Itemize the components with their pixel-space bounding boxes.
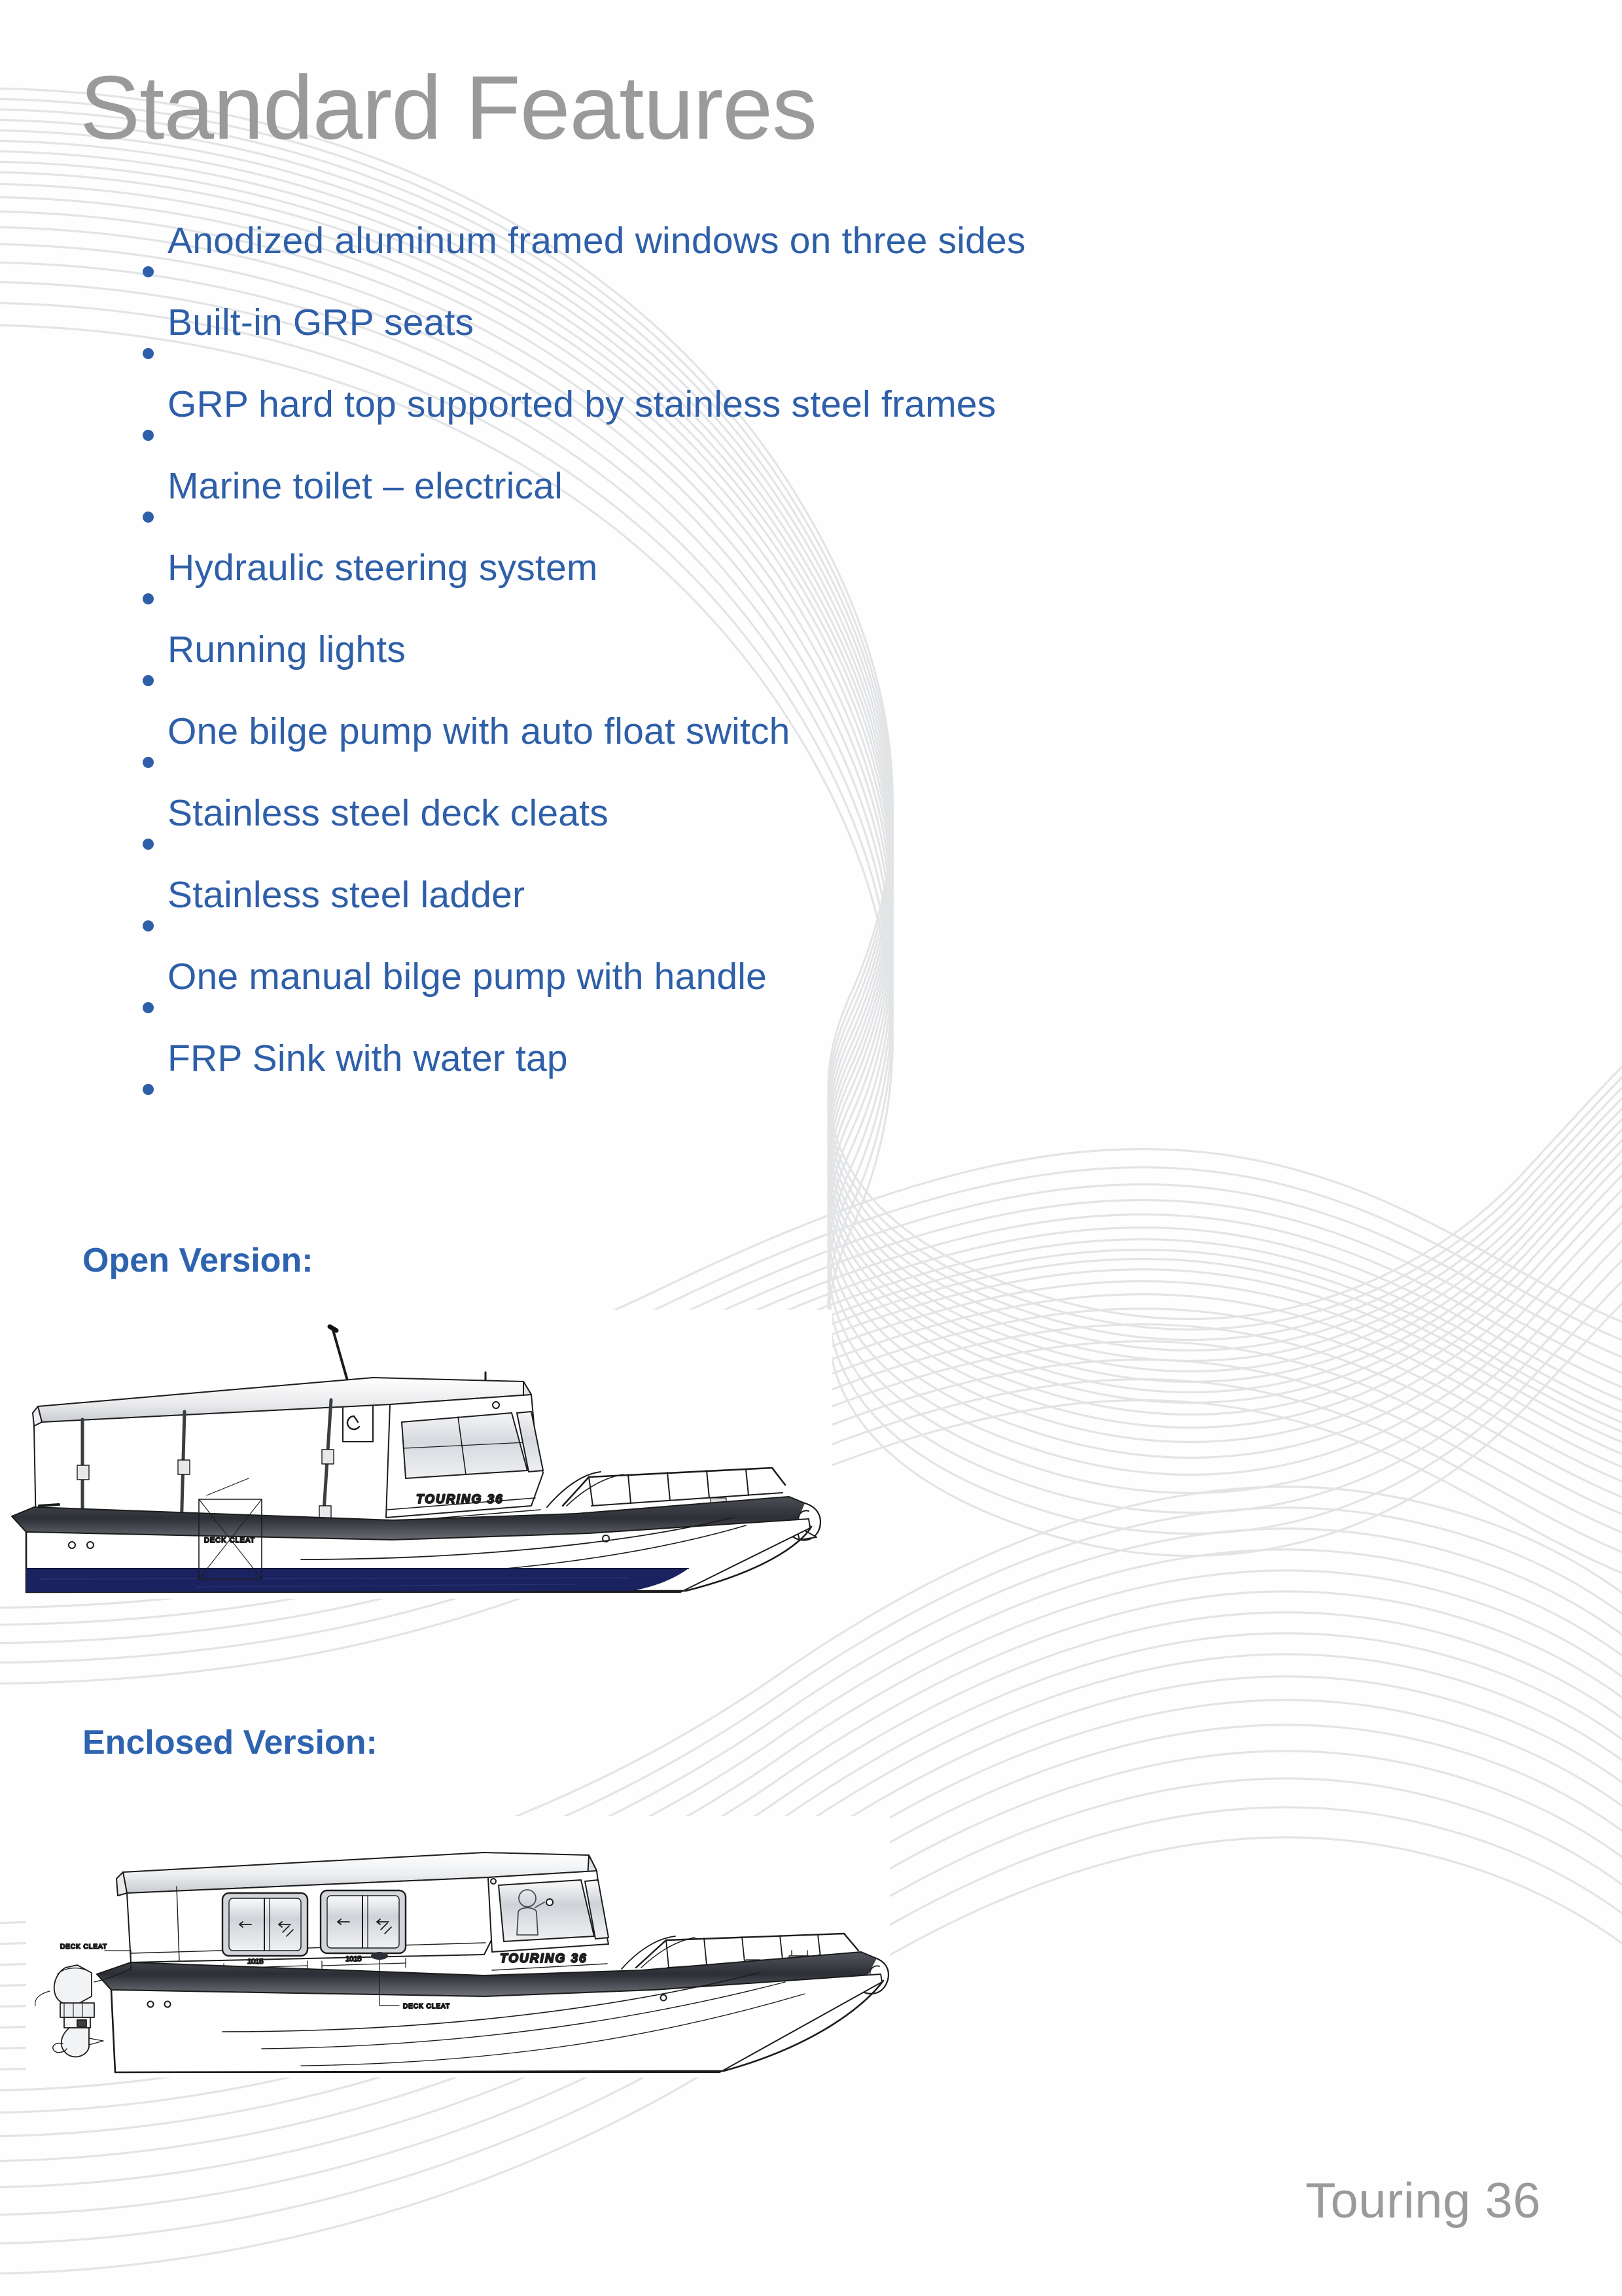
feature-label: FRP Sink with water tap bbox=[167, 1040, 568, 1077]
feature-label: Anodized aluminum framed windows on thre… bbox=[167, 222, 1026, 260]
page-title: Standard Features bbox=[80, 63, 817, 153]
deck-cleat-callout: DECK CLEAT bbox=[403, 2003, 450, 2010]
list-item: FRP Sink with water tap bbox=[137, 1040, 1420, 1122]
list-item: One bilge pump with auto float switch bbox=[137, 713, 1420, 795]
feature-label: GRP hard top supported by stainless stee… bbox=[167, 386, 996, 423]
list-item: Running lights bbox=[137, 631, 1420, 713]
feature-label: One manual bilge pump with handle bbox=[167, 958, 767, 996]
enclosed-version-boat-svg: 1015 1015 TOURING 36 bbox=[26, 1816, 890, 2078]
deck-cleat-callout: DECK CLEAT bbox=[204, 1537, 255, 1544]
list-item: Anodized aluminum framed windows on thre… bbox=[137, 222, 1420, 304]
enclosed-version-heading: Enclosed Version: bbox=[82, 1723, 378, 1762]
feature-label: Built-in GRP seats bbox=[167, 304, 474, 341]
open-version-boat-illustration: TOURING 36 bbox=[0, 1310, 832, 1599]
feature-label: Stainless steel ladder bbox=[167, 877, 525, 914]
list-item: Stainless steel ladder bbox=[137, 877, 1420, 958]
feature-label: Running lights bbox=[167, 631, 406, 669]
list-item: One manual bilge pump with handle bbox=[137, 958, 1420, 1040]
list-item: Built-in GRP seats bbox=[137, 304, 1420, 386]
feature-label: Marine toilet – electrical bbox=[167, 468, 563, 505]
window-dimension-label: 1015 bbox=[247, 1958, 263, 1966]
list-item: GRP hard top supported by stainless stee… bbox=[137, 386, 1420, 468]
feature-label: Hydraulic steering system bbox=[167, 549, 598, 587]
list-item: Hydraulic steering system bbox=[137, 549, 1420, 631]
open-version-heading: Open Version: bbox=[82, 1241, 313, 1280]
deck-cleat-callout: DECK CLEAT bbox=[60, 1943, 107, 1951]
feature-label: Stainless steel deck cleats bbox=[167, 795, 608, 832]
enclosed-version-boat-illustration: 1015 1015 TOURING 36 bbox=[26, 1816, 890, 2078]
feature-label: One bilge pump with auto float switch bbox=[167, 713, 790, 750]
hull-brand-text: TOURING 36 bbox=[500, 1952, 588, 1966]
footer-model-name: Touring 36 bbox=[1305, 2172, 1541, 2229]
window-dimension-label: 1015 bbox=[345, 1955, 361, 1963]
list-item: Marine toilet – electrical bbox=[137, 468, 1420, 549]
list-item: Stainless steel deck cleats bbox=[137, 795, 1420, 877]
open-version-boat-svg: TOURING 36 bbox=[0, 1310, 832, 1599]
standard-features-list: Anodized aluminum framed windows on thre… bbox=[137, 222, 1420, 1122]
